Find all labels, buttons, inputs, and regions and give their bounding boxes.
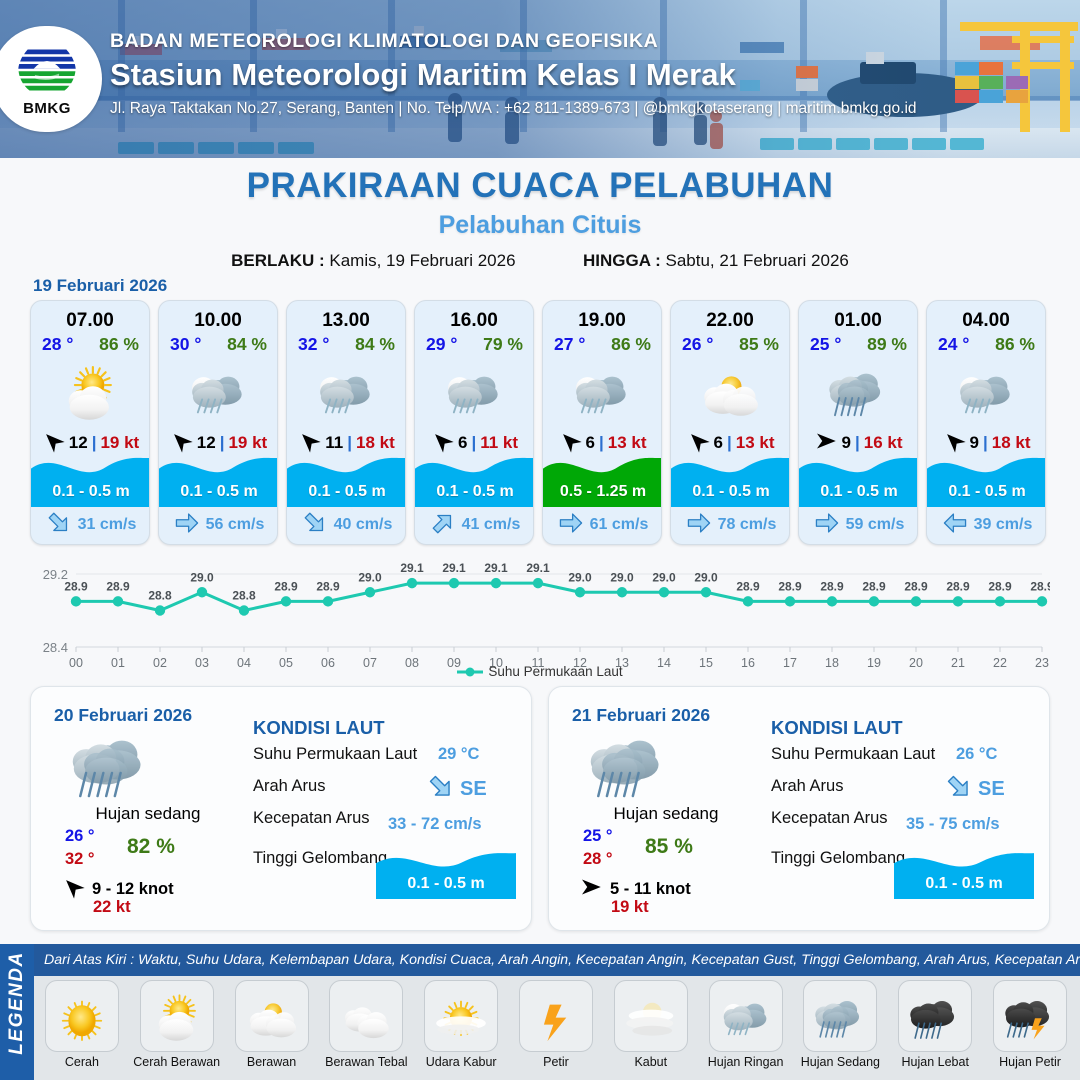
panel-row-label: Suhu Permukaan Laut <box>253 745 417 764</box>
panel-temp-max: 32 ° <box>65 850 95 869</box>
hujan-ringan-icon <box>927 356 1045 428</box>
legend-label: Suhu Permukaan Laut <box>488 664 622 679</box>
current-direction-arrow-icon <box>174 510 200 541</box>
card-current-speed: 56 cm/s <box>206 516 265 534</box>
legenda-item-label: Berawan <box>247 1055 296 1069</box>
legenda-item-label: Berawan Tebal <box>325 1055 407 1069</box>
current-direction-arrow-icon <box>558 510 584 541</box>
card-time: 07.00 <box>31 310 149 332</box>
panel-wind-range: 9 - 12 knot <box>92 880 174 899</box>
svg-text:29.1: 29.1 <box>526 561 550 575</box>
station-name: Stasiun Meteorologi Maritim Kelas I Mera… <box>110 57 1060 93</box>
current-direction-arrow-icon <box>945 773 973 806</box>
svg-text:28.9: 28.9 <box>778 579 802 593</box>
svg-text:28.9: 28.9 <box>316 579 340 593</box>
panel-wave-height: 0.1 - 0.5 m <box>376 843 516 899</box>
legenda-item: Hujan Ringan <box>700 980 792 1076</box>
panel-row-label: Kecepatan Arus <box>253 809 370 828</box>
card-current-speed: 59 cm/s <box>846 516 905 534</box>
legenda-item-label: Udara Kabur <box>426 1055 497 1069</box>
panel-current-direction: SE <box>945 773 1005 806</box>
card-time: 01.00 <box>799 310 917 332</box>
card-current-speed: 41 cm/s <box>462 516 521 534</box>
card-wave-label: 0.1 - 0.5 m <box>799 483 918 501</box>
svg-text:28.9: 28.9 <box>904 579 928 593</box>
hourly-forecast-card: 01.00 25 ° 89 % 9 | <box>798 300 918 545</box>
hourly-forecast-card: 07.00 28 ° 86 % 12 <box>30 300 150 545</box>
svg-text:28.9: 28.9 <box>274 579 298 593</box>
panel-wind-gust: 19 kt <box>611 898 649 917</box>
kabut-icon <box>614 980 688 1052</box>
panel-row-label: Arah Arus <box>771 777 843 796</box>
petir-icon <box>519 980 593 1052</box>
panel-temp-max: 28 ° <box>583 850 613 869</box>
svg-text:28.4: 28.4 <box>43 640 68 655</box>
current-direction-arrow-icon <box>686 510 712 541</box>
udara-kabur-icon <box>424 980 498 1052</box>
card-humidity: 89 % <box>867 334 907 355</box>
hujan-sedang-icon <box>799 356 917 428</box>
wind-direction-arrow-icon <box>579 875 603 904</box>
berawan-tebal-icon <box>329 980 403 1052</box>
card-temperature: 27 ° <box>554 334 585 355</box>
svg-text:28.9: 28.9 <box>736 579 760 593</box>
bmkg-logo-mark <box>16 41 78 99</box>
svg-text:28.9: 28.9 <box>64 579 88 593</box>
hujan-lebat-icon <box>898 980 972 1052</box>
panel-row-label: Tinggi Gelombang <box>253 849 387 868</box>
card-wave-height: 0.1 - 0.5 m <box>927 447 1046 507</box>
panel-current-speed-value: 35 - 75 cm/s <box>906 815 1000 834</box>
panel-date: 20 Februari 2026 <box>54 705 192 726</box>
svg-text:29.0: 29.0 <box>190 570 214 584</box>
legenda-item: Hujan Sedang <box>795 980 887 1076</box>
svg-text:28.8: 28.8 <box>232 589 256 603</box>
card-humidity: 79 % <box>483 334 523 355</box>
card-temperature: 28 ° <box>42 334 73 355</box>
card-humidity: 86 % <box>995 334 1035 355</box>
legenda-item: Hujan Petir <box>984 980 1076 1076</box>
card-wave-label: 0.1 - 0.5 m <box>31 483 150 501</box>
card-current: 61 cm/s <box>543 509 662 541</box>
card-wave-height: 0.1 - 0.5 m <box>799 447 918 507</box>
card-current: 40 cm/s <box>287 509 406 541</box>
svg-text:28.9: 28.9 <box>946 579 970 593</box>
card-time: 16.00 <box>415 310 533 332</box>
hourly-forecast-card: 19.00 27 ° 86 % 6 | <box>542 300 662 545</box>
daily-forecast-panel: 20 Februari 2026 Hujan sedang 26 ° 32 ° … <box>30 686 532 931</box>
panel-current-direction-value: SE <box>460 778 487 801</box>
card-time: 22.00 <box>671 310 789 332</box>
panel-current-direction: SE <box>427 773 487 806</box>
card-wave-label: 0.1 - 0.5 m <box>927 483 1046 501</box>
daily-forecast-panels: 20 Februari 2026 Hujan sedang 26 ° 32 ° … <box>30 686 1050 931</box>
title-block: PRAKIRAAN CUACA PELABUHAN Pelabuhan Citu… <box>0 166 1080 271</box>
svg-text:29.1: 29.1 <box>484 561 508 575</box>
panel-sea-title: KONDISI LAUT <box>771 717 903 739</box>
card-temperature: 29 ° <box>426 334 457 355</box>
hujan-ringan-icon <box>159 356 277 428</box>
card-current-speed: 31 cm/s <box>78 516 137 534</box>
svg-text:29.1: 29.1 <box>442 561 466 575</box>
day1-date: 19 Februari 2026 <box>33 276 167 296</box>
svg-text:29.0: 29.0 <box>610 570 634 584</box>
hujan-ringan-icon <box>415 356 533 428</box>
svg-text:29.0: 29.0 <box>652 570 676 584</box>
legenda-item-label: Cerah <box>65 1055 99 1069</box>
hourly-forecast-card: 13.00 32 ° 84 % 11 <box>286 300 406 545</box>
legenda-item: Berawan Tebal <box>320 980 412 1076</box>
legenda-section: LEGENDA Dari Atas Kiri : Waktu, Suhu Uda… <box>0 944 1080 1080</box>
current-direction-arrow-icon <box>46 510 72 541</box>
svg-text:28.9: 28.9 <box>106 579 130 593</box>
card-humidity: 85 % <box>739 334 779 355</box>
hujan-sedang-icon <box>63 725 159 809</box>
card-time: 04.00 <box>927 310 1045 332</box>
sst-chart: 29.228.400010203040506070809101112131415… <box>30 552 1050 677</box>
current-direction-arrow-icon <box>942 510 968 541</box>
card-wave-label: 0.1 - 0.5 m <box>415 483 534 501</box>
svg-text:29.0: 29.0 <box>694 570 718 584</box>
legenda-item: Berawan <box>226 980 318 1076</box>
card-temperature: 26 ° <box>682 334 713 355</box>
cerah-icon <box>45 980 119 1052</box>
svg-text:28.9: 28.9 <box>862 579 886 593</box>
legenda-note-bar: Dari Atas Kiri : Waktu, Suhu Udara, Kele… <box>34 944 1080 976</box>
card-humidity: 84 % <box>355 334 395 355</box>
legenda-item: Cerah Berawan <box>131 980 223 1076</box>
legenda-item-label: Cerah Berawan <box>133 1055 220 1069</box>
card-current-speed: 40 cm/s <box>334 516 393 534</box>
panel-row-label: Suhu Permukaan Laut <box>771 745 935 764</box>
berlaku-value: Kamis, 19 Februari 2026 <box>329 251 515 270</box>
panel-wave-height: 0.1 - 0.5 m <box>894 843 1034 899</box>
panel-sst-value: 29 °C <box>438 745 479 764</box>
legenda-item: Hujan Lebat <box>889 980 981 1076</box>
card-current-speed: 78 cm/s <box>718 516 777 534</box>
contact-line: Jl. Raya Taktakan No.27, Serang, Banten … <box>110 100 1060 118</box>
panel-row-label: Arah Arus <box>253 777 325 796</box>
hourly-forecast-card: 16.00 29 ° 79 % 6 | <box>414 300 534 545</box>
panel-date: 21 Februari 2026 <box>572 705 710 726</box>
panel-wave-label: 0.1 - 0.5 m <box>376 875 516 893</box>
legenda-note: Dari Atas Kiri : Waktu, Suhu Udara, Kele… <box>34 952 1080 968</box>
panel-wave-label: 0.1 - 0.5 m <box>894 875 1034 893</box>
card-temperature: 25 ° <box>810 334 841 355</box>
panel-row-label: Tinggi Gelombang <box>771 849 905 868</box>
card-time: 10.00 <box>159 310 277 332</box>
svg-text:28.9: 28.9 <box>988 579 1012 593</box>
legenda-item-label: Kabut <box>634 1055 667 1069</box>
svg-text:28.9: 28.9 <box>820 579 844 593</box>
hourly-forecast-card: 10.00 30 ° 84 % 12 <box>158 300 278 545</box>
legenda-side-tab: LEGENDA <box>0 944 34 1080</box>
card-wave-height: 0.1 - 0.5 m <box>159 447 278 507</box>
page-title: PRAKIRAAN CUACA PELABUHAN <box>0 166 1080 206</box>
legenda-item-label: Hujan Sedang <box>801 1055 880 1069</box>
card-current: 56 cm/s <box>159 509 278 541</box>
svg-text:29.0: 29.0 <box>568 570 592 584</box>
panel-temp-min: 25 ° <box>583 827 613 846</box>
bmkg-logo-text: BMKG <box>23 100 71 117</box>
card-wave-height: 0.1 - 0.5 m <box>31 447 150 507</box>
panel-sst-value: 26 °C <box>956 745 997 764</box>
panel-current-direction-value: SE <box>978 778 1005 801</box>
panel-row-label: Kecepatan Arus <box>771 809 888 828</box>
legenda-item: Udara Kabur <box>415 980 507 1076</box>
card-current-speed: 61 cm/s <box>590 516 649 534</box>
card-humidity: 86 % <box>611 334 651 355</box>
current-direction-arrow-icon <box>430 510 456 541</box>
card-current: 59 cm/s <box>799 509 918 541</box>
legenda-item-label: Hujan Lebat <box>902 1055 969 1069</box>
svg-text:28.8: 28.8 <box>148 589 172 603</box>
panel-wind-range: 5 - 11 knot <box>610 880 691 899</box>
daily-forecast-panel: 21 Februari 2026 Hujan sedang 25 ° 28 ° … <box>548 686 1050 931</box>
chart-legend: Suhu Permukaan Laut <box>0 664 1080 680</box>
hourly-forecast-card: 22.00 26 ° 85 % 6 | <box>670 300 790 545</box>
berawan-icon <box>235 980 309 1052</box>
card-time: 19.00 <box>543 310 661 332</box>
current-direction-arrow-icon <box>814 510 840 541</box>
panel-sea-title: KONDISI LAUT <box>253 717 385 739</box>
card-wave-label: 0.1 - 0.5 m <box>159 483 278 501</box>
panel-condition: Hujan sedang <box>571 804 761 824</box>
panel-current-speed-value: 33 - 72 cm/s <box>388 815 482 834</box>
agency-name: BADAN METEOROLOGI KLIMATOLOGI DAN GEOFIS… <box>110 30 1060 53</box>
legenda-item: Cerah <box>36 980 128 1076</box>
legenda-item-label: Hujan Petir <box>999 1055 1061 1069</box>
legenda-item-label: Petir <box>543 1055 569 1069</box>
card-wave-height: 0.5 - 1.25 m <box>543 447 662 507</box>
card-temperature: 32 ° <box>298 334 329 355</box>
legend-swatch <box>457 665 483 680</box>
cerah-berawan-icon <box>31 356 149 428</box>
card-current: 39 cm/s <box>927 509 1046 541</box>
legenda-icon-row: Cerah Cerah Berawan <box>36 980 1076 1076</box>
card-current-speed: 39 cm/s <box>974 516 1033 534</box>
bmkg-logo: BMKG <box>0 26 102 132</box>
legenda-side-label: LEGENDA <box>6 944 28 1062</box>
current-direction-arrow-icon <box>427 773 455 806</box>
card-wave-height: 0.1 - 0.5 m <box>415 447 534 507</box>
hujan-ringan-icon <box>287 356 405 428</box>
svg-text:29.0: 29.0 <box>358 570 382 584</box>
legenda-item: Kabut <box>605 980 697 1076</box>
berlaku-label: BERLAKU : <box>231 251 325 270</box>
panel-condition: Hujan sedang <box>53 804 243 824</box>
validity-row: BERLAKU : Kamis, 19 Februari 2026 HINGGA… <box>0 251 1080 271</box>
panel-wind-gust: 22 kt <box>93 898 131 917</box>
card-time: 13.00 <box>287 310 405 332</box>
current-direction-arrow-icon <box>302 510 328 541</box>
card-temperature: 24 ° <box>938 334 969 355</box>
legenda-item: Petir <box>510 980 602 1076</box>
page-subtitle: Pelabuhan Cituis <box>0 211 1080 240</box>
hujan-ringan-icon <box>543 356 661 428</box>
panel-humidity: 82 % <box>127 835 175 859</box>
card-wave-label: 0.1 - 0.5 m <box>671 483 790 501</box>
card-humidity: 86 % <box>99 334 139 355</box>
hujan-sedang-icon <box>803 980 877 1052</box>
card-humidity: 84 % <box>227 334 267 355</box>
card-wave-label: 0.5 - 1.25 m <box>543 483 662 501</box>
card-wave-label: 0.1 - 0.5 m <box>287 483 406 501</box>
berawan-icon <box>671 356 789 428</box>
legenda-item-label: Hujan Ringan <box>708 1055 784 1069</box>
card-wave-height: 0.1 - 0.5 m <box>287 447 406 507</box>
card-wave-height: 0.1 - 0.5 m <box>671 447 790 507</box>
hingga-value: Sabtu, 21 Februari 2026 <box>666 251 849 270</box>
cerah-berawan-icon <box>140 980 214 1052</box>
panel-humidity: 85 % <box>645 835 693 859</box>
hujan-petir-icon <box>993 980 1067 1052</box>
header-text-block: BADAN METEOROLOGI KLIMATOLOGI DAN GEOFIS… <box>110 30 1060 118</box>
hujan-ringan-icon <box>709 980 783 1052</box>
svg-text:28.9: 28.9 <box>1030 579 1050 593</box>
hourly-forecast-card: 04.00 24 ° 86 % 9 | <box>926 300 1046 545</box>
hourly-forecast-strip: 07.00 28 ° 86 % 12 <box>30 300 1050 545</box>
svg-text:29.1: 29.1 <box>400 561 424 575</box>
card-current: 31 cm/s <box>31 509 150 541</box>
hujan-sedang-icon <box>581 725 677 809</box>
hingga-label: HINGGA : <box>583 251 661 270</box>
page-header: BMKG BADAN METEOROLOGI KLIMATOLOGI DAN G… <box>0 0 1080 158</box>
card-temperature: 30 ° <box>170 334 201 355</box>
card-current: 41 cm/s <box>415 509 534 541</box>
card-current: 78 cm/s <box>671 509 790 541</box>
panel-temp-min: 26 ° <box>65 827 95 846</box>
wind-direction-arrow-icon <box>61 875 85 904</box>
